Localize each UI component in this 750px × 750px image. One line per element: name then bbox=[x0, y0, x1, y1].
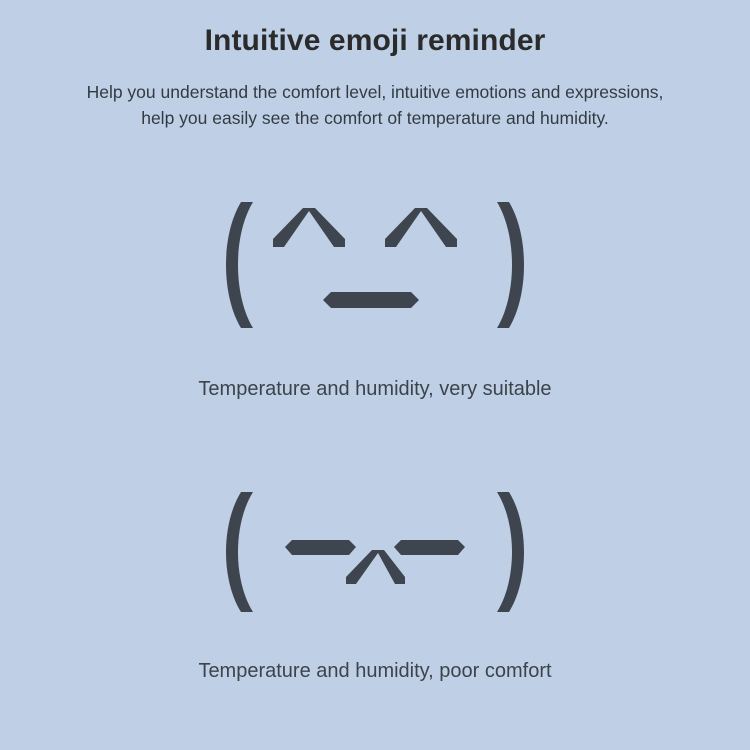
emoji-item-very-suitable: Temperature and humidity, very suitable bbox=[0, 190, 750, 402]
emoji-caption-very-suitable: Temperature and humidity, very suitable bbox=[0, 376, 750, 402]
left-eye-dash-glyph bbox=[285, 540, 356, 555]
right-eye-caret-glyph-right bbox=[421, 208, 457, 247]
left-eye-caret-glyph-right bbox=[309, 208, 345, 247]
subtitle-line-1: Help you understand the comfort level, i… bbox=[25, 79, 725, 105]
page-title: Intuitive emoji reminder bbox=[0, 22, 750, 60]
emoji-caption-poor-comfort: Temperature and humidity, poor comfort bbox=[0, 658, 750, 684]
left-eye-caret-glyph bbox=[273, 208, 309, 247]
page-subtitle: Help you understand the comfort level, i… bbox=[25, 79, 725, 131]
right-parenthesis-glyph bbox=[497, 492, 524, 612]
emoji-reminder-page: Intuitive emoji reminder Help you unders… bbox=[0, 0, 750, 750]
page-header: Intuitive emoji reminder Help you unders… bbox=[0, 0, 750, 131]
emoji-item-poor-comfort: Temperature and humidity, poor comfort bbox=[0, 482, 750, 684]
happy-face-emoji bbox=[225, 190, 525, 340]
subtitle-line-2: help you easily see the comfort of tempe… bbox=[25, 105, 725, 131]
mouth-dash-glyph bbox=[323, 292, 419, 308]
left-parenthesis-glyph bbox=[226, 202, 253, 328]
mouth-caret-glyph-right bbox=[378, 550, 405, 584]
uncomfortable-face-emoji bbox=[225, 482, 525, 622]
right-parenthesis-glyph bbox=[497, 202, 524, 328]
mouth-caret-glyph bbox=[346, 550, 378, 584]
right-eye-caret-glyph bbox=[385, 208, 421, 247]
right-eye-dash-glyph bbox=[394, 540, 465, 555]
left-parenthesis-glyph bbox=[226, 492, 253, 612]
